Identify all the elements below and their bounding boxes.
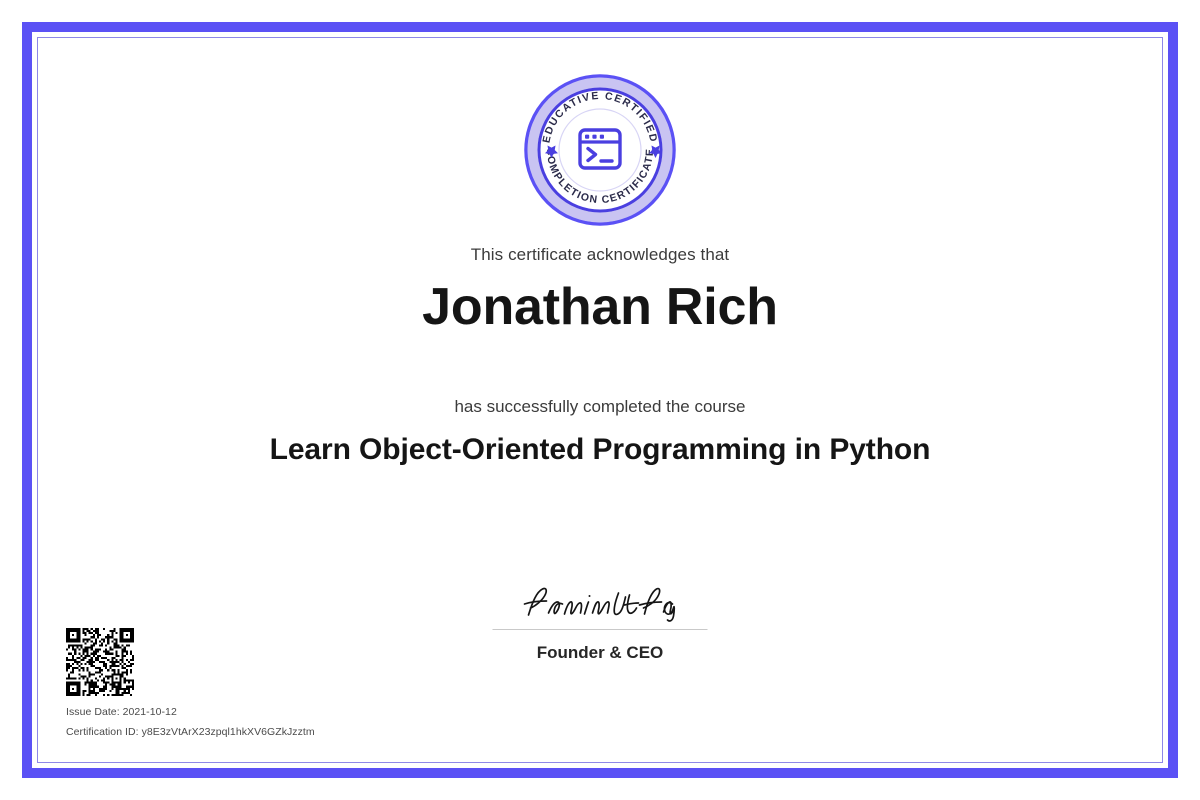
certification-badge: EDUCATIVE CERTIFIED COMPLETION CERTIFICA… <box>522 72 678 228</box>
issue-date: Issue Date: 2021-10-12 <box>66 706 315 718</box>
certificate-inner-border: EDUCATIVE CERTIFIED COMPLETION CERTIFICA… <box>37 37 1163 763</box>
handwritten-signature-icon <box>520 582 680 624</box>
recipient-name: Jonathan Rich <box>38 277 1162 337</box>
qr-code[interactable] <box>66 628 134 696</box>
certificate-page: EDUCATIVE CERTIFIED COMPLETION CERTIFICA… <box>0 0 1200 800</box>
completion-line: has successfully completed the course <box>38 397 1162 417</box>
certificate-outer-border: EDUCATIVE CERTIFIED COMPLETION CERTIFICA… <box>22 22 1178 778</box>
badge-center-circle <box>559 109 641 191</box>
signature-role: Founder & CEO <box>493 643 708 663</box>
acknowledgement-line: This certificate acknowledges that <box>38 245 1162 265</box>
signature-block: Founder & CEO <box>493 578 708 663</box>
course-title: Learn Object-Oriented Programming in Pyt… <box>38 433 1162 467</box>
badge-seal-svg: EDUCATIVE CERTIFIED COMPLETION CERTIFICA… <box>522 72 678 228</box>
signature-mark <box>493 578 708 624</box>
signature-divider <box>493 629 708 630</box>
certificate-footer: Issue Date: 2021-10-12 Certification ID:… <box>66 628 315 738</box>
certification-id: Certification ID: y8E3zVtArX23zpql1hkXV6… <box>66 726 315 738</box>
